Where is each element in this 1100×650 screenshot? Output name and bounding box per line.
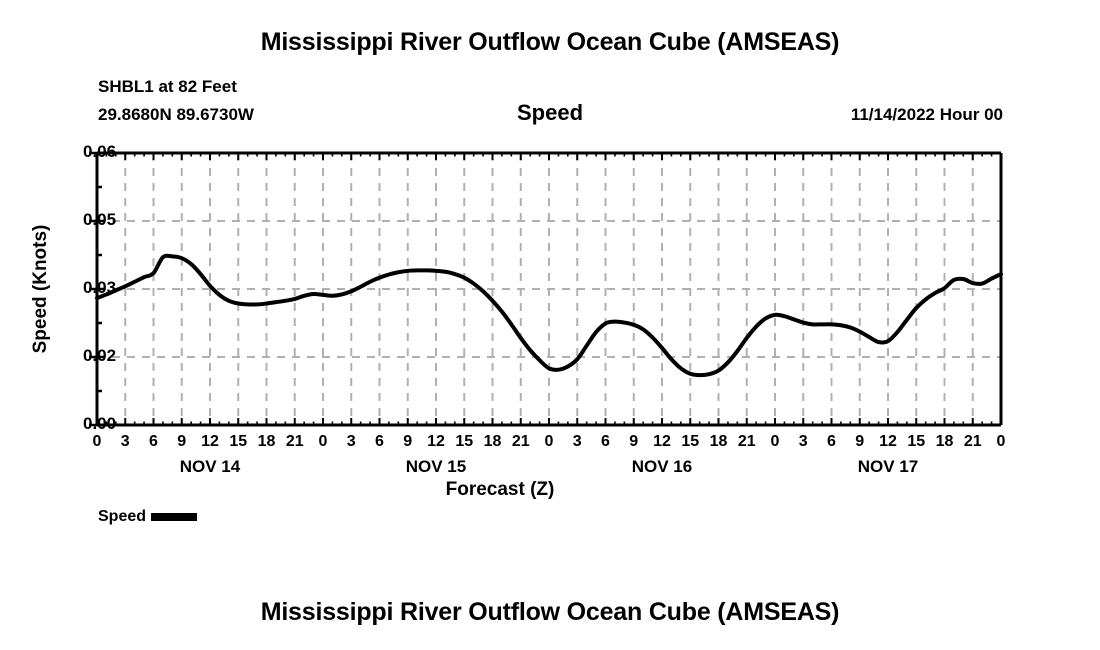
gridlines xyxy=(97,153,1001,425)
y-axis-title: Speed (Knots) xyxy=(30,0,52,152)
chart-page: Mississippi River Outflow Ocean Cube (AM… xyxy=(0,0,1100,650)
legend: Speed xyxy=(98,508,197,526)
day-label: NOV 15 xyxy=(386,457,486,477)
day-label: NOV 16 xyxy=(612,457,712,477)
x-tick-label: 0 xyxy=(981,433,1021,451)
chart-svg xyxy=(0,0,1100,650)
x-axis-title: Forecast (Z) xyxy=(300,479,700,501)
legend-line-swatch xyxy=(151,513,197,521)
day-label: NOV 17 xyxy=(838,457,938,477)
legend-label: Speed xyxy=(98,508,146,526)
plot-area: Speed (Knots) 0.000.020.030.050.06 03691… xyxy=(0,0,1100,650)
day-label: NOV 14 xyxy=(160,457,260,477)
page-title-bottom: Mississippi River Outflow Ocean Cube (AM… xyxy=(0,598,1100,627)
